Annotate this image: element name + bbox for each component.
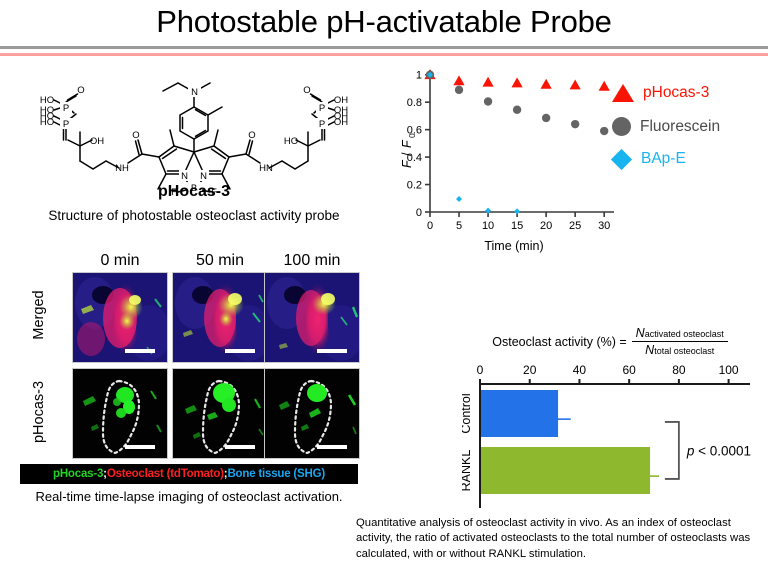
atom-label-oh-left: OH — [90, 136, 104, 147]
atom-label-o-left-top: O — [77, 85, 84, 96]
bar-chart-svg: 020406080100 ControlRANKL p < 0.0001 — [462, 358, 768, 510]
column-label-100min: 100 min — [264, 252, 360, 270]
bar-xtick: 100 — [719, 363, 739, 377]
compound-name: pHocas-3 — [18, 183, 370, 201]
scatter-xtick: 10 — [482, 220, 494, 232]
bar-control — [481, 390, 558, 437]
atom-label-p-right-lower: P — [319, 119, 325, 130]
bar-xtick: 40 — [573, 363, 587, 377]
legend-label-phocas3: pHocas-3 — [643, 84, 709, 102]
legend-item-fluorescein: Fluorescein — [612, 117, 720, 136]
formula-numerator-symbol: N — [636, 326, 645, 340]
microscopy-caption: Real-time time-lapse imaging of osteocla… — [8, 489, 370, 504]
scatter-xtick: 5 — [456, 220, 462, 232]
legend-item-phocas3: pHocas-3 — [612, 84, 709, 102]
timelapse-microscopy-panel: 0 min 50 min 100 min Merged pHocas-3 — [20, 252, 360, 462]
photostability-scatter-plot: 00.20.40.60.81051015202530 Time (min) F … — [396, 60, 768, 255]
legend-item-bape: BAp-E — [614, 150, 686, 168]
bar-xtick: 20 — [523, 363, 537, 377]
atom-label-p-left-upper: P — [63, 103, 69, 114]
atom-label-o-right-top: O — [303, 85, 310, 96]
svg-text:F: F — [400, 139, 414, 148]
atom-label-pyrrole-n-right: N — [200, 171, 207, 182]
scale-bar — [317, 445, 347, 449]
scatter-xtick: 20 — [540, 220, 552, 232]
bar-chart-caption: Quantitative analysis of osteoclast acti… — [356, 516, 762, 562]
micro-image-phocas3-50min — [172, 368, 268, 459]
row-label-phocas3: pHocas-3 — [31, 369, 47, 455]
scatter-ytick: 0 — [416, 207, 422, 219]
svg-text:0: 0 — [407, 133, 417, 138]
atom-label-amine-n: N — [191, 87, 198, 98]
scatter-point-triangle — [541, 79, 552, 89]
scatter-point-diamond — [456, 196, 462, 202]
scatter-point-circle — [542, 114, 550, 122]
scatter-point-circle — [455, 86, 463, 94]
micro-image-merged-50min — [172, 272, 268, 363]
atom-label-amide-nh-right: HN — [259, 163, 273, 174]
structure-caption: Structure of photostable osteoclast acti… — [10, 208, 378, 223]
formula-denominator-symbol: N — [645, 343, 654, 357]
atom-label-carbonyl-o-right: O — [248, 130, 255, 141]
atom-label-amide-nh-left: NH — [115, 163, 129, 174]
bar-xtick: 60 — [622, 363, 636, 377]
micro-image-phocas3-0min — [72, 368, 168, 459]
formula-numerator-sub: activated osteoclast — [645, 329, 724, 339]
bar-xtick: 80 — [672, 363, 686, 377]
scatter-xtick: 25 — [569, 220, 581, 232]
scatter-svg: 00.20.40.60.81051015202530 Time (min) F … — [396, 60, 768, 255]
osteoclast-activity-bar-chart: 020406080100 ControlRANKL p < 0.0001 — [462, 358, 768, 510]
scatter-point-triangle — [570, 79, 581, 89]
legend-label-fluorescein: Fluorescein — [640, 118, 720, 136]
bar-category-control: Control — [462, 393, 473, 433]
bar-xtick: 0 — [477, 363, 484, 377]
header-rule-gray — [0, 46, 768, 49]
atom-label-ho-l4: HO — [40, 105, 54, 116]
scatter-point-circle — [600, 127, 608, 135]
scale-bar — [317, 349, 347, 353]
color-key-osteoclast: Osteoclast (tdTomato) — [107, 468, 224, 480]
micro-image-merged-0min — [72, 272, 168, 363]
atom-label-ho-right: HO — [284, 136, 298, 147]
scatter-point-triangle — [453, 75, 464, 85]
scatter-xlabel: Time (min) — [484, 239, 543, 253]
diamond-icon — [611, 148, 632, 169]
micro-image-merged-100min — [264, 272, 360, 363]
column-label-50min: 50 min — [172, 252, 268, 270]
scatter-ytick: 1 — [416, 70, 422, 82]
formula-denominator-sub: total osteoclast — [654, 346, 714, 356]
atom-label-carbonyl-o-left: O — [132, 130, 139, 141]
svg-text:/: / — [400, 152, 414, 156]
circle-icon — [612, 117, 631, 136]
scale-bar — [125, 445, 155, 449]
color-key-phocas3: pHocas-3 — [53, 468, 103, 480]
significance-annotation: p < 0.0001 — [665, 422, 751, 479]
scale-bar — [225, 349, 255, 353]
atom-label-oh-r4: OH — [334, 105, 348, 116]
scatter-point-circle — [571, 120, 579, 128]
scatter-point-diamond — [514, 208, 520, 214]
scatter-ytick: 0.8 — [407, 97, 422, 109]
formula-lhs: Osteoclast activity (%) = — [492, 335, 626, 349]
p-value-label: p < 0.0001 — [686, 443, 751, 458]
atom-label-p-right-upper: P — [319, 103, 325, 114]
triangle-icon — [612, 84, 634, 102]
bar-rankl — [481, 447, 650, 494]
formula-denominator: Ntotal osteoclast — [641, 342, 718, 357]
header-rule-pink — [0, 53, 768, 56]
scale-bar — [125, 349, 155, 353]
atom-label-p-left-lower: P — [63, 119, 69, 130]
formula-numerator: Nactivated osteoclast — [632, 326, 728, 342]
legend-label-bape: BAp-E — [641, 150, 686, 168]
scatter-point-triangle — [482, 77, 493, 87]
page-title: Photostable pH-activatable Probe — [0, 4, 768, 40]
scatter-point-triangle — [511, 77, 522, 87]
scatter-ytick: 0.2 — [407, 180, 422, 192]
bar-category-rankl: RANKL — [462, 450, 473, 492]
scatter-point-triangle — [599, 81, 610, 91]
scale-bar — [225, 445, 255, 449]
atom-label-pyrrole-n-left: N — [181, 171, 188, 182]
scatter-xtick: 0 — [427, 220, 433, 232]
scatter-xtick: 15 — [511, 220, 523, 232]
column-label-0min: 0 min — [72, 252, 168, 270]
channel-color-key: pHocas-3 ; Osteoclast (tdTomato) ; Bone … — [20, 464, 358, 484]
scatter-point-circle — [484, 97, 492, 105]
formula-fraction: Nactivated osteoclast Ntotal osteoclast — [632, 326, 728, 358]
scatter-xtick: 30 — [598, 220, 610, 232]
osteoclast-activity-formula: Osteoclast activity (%) = Nactivated ost… — [476, 326, 744, 358]
micro-image-phocas3-100min — [264, 368, 360, 459]
scatter-point-circle — [513, 106, 521, 114]
row-label-merged: Merged — [31, 272, 47, 358]
color-key-bone: Bone tissue (SHG) — [227, 468, 325, 480]
